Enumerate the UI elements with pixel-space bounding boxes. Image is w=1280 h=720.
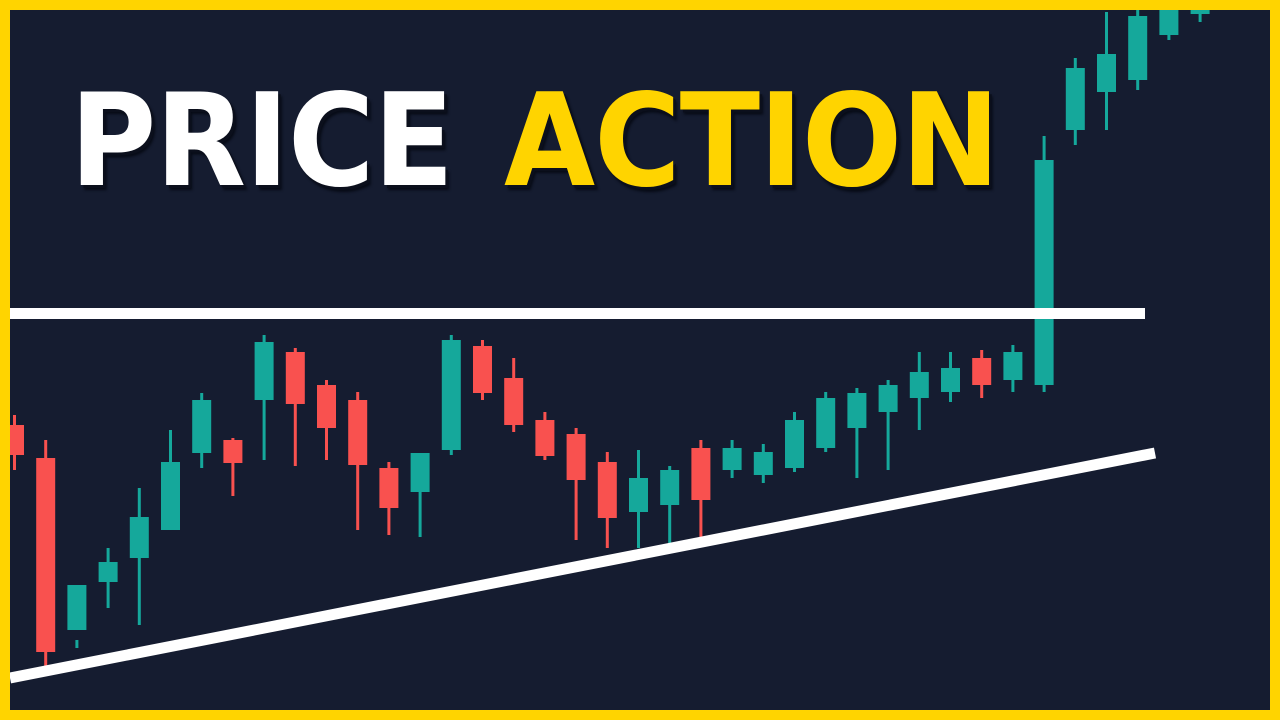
candle-body (130, 517, 149, 558)
candle-body (442, 340, 461, 450)
candle-wick (75, 640, 78, 648)
candle-body (1128, 16, 1147, 80)
candle-body (879, 385, 898, 412)
candle-body (816, 398, 835, 448)
candle-body (567, 434, 586, 480)
title-word-primary: PRICE (70, 78, 453, 206)
candle-body (723, 448, 742, 470)
candle-body (691, 448, 710, 500)
page-title: PRICEACTION (70, 78, 1042, 206)
candle-body (660, 470, 679, 505)
frame-border-bottom (0, 710, 1280, 720)
frame-border-right (1270, 0, 1280, 720)
candle-body (1003, 352, 1022, 380)
candle-body (255, 342, 274, 400)
frame-border-top (0, 0, 1280, 10)
candle-body (847, 393, 866, 428)
candle-body (972, 358, 991, 385)
candle-body (67, 585, 86, 630)
candle-body (379, 468, 398, 508)
candle-body (1097, 54, 1116, 92)
thumbnail-canvas: PRICEACTION (0, 0, 1280, 720)
candle-body (504, 378, 523, 425)
candle-body (785, 420, 804, 468)
resistance-level-line (10, 308, 1145, 319)
candle-body (36, 458, 55, 652)
candle-body (473, 346, 492, 393)
candle-body (629, 478, 648, 512)
candle-body (317, 385, 336, 428)
candle-body (161, 462, 180, 530)
candle-body (192, 400, 211, 453)
title-word-accent: ACTION (504, 78, 999, 206)
candle-body (411, 453, 430, 492)
candle-body (910, 372, 929, 398)
candle-body (535, 420, 554, 456)
candle-body (941, 368, 960, 392)
candle-body (223, 440, 242, 463)
candle-body (348, 400, 367, 465)
candle-body (754, 452, 773, 475)
candle-body (99, 562, 118, 582)
frame-border-left (0, 0, 10, 720)
candle-body (598, 462, 617, 518)
candle-body (286, 352, 305, 404)
candle-body (1066, 68, 1085, 130)
